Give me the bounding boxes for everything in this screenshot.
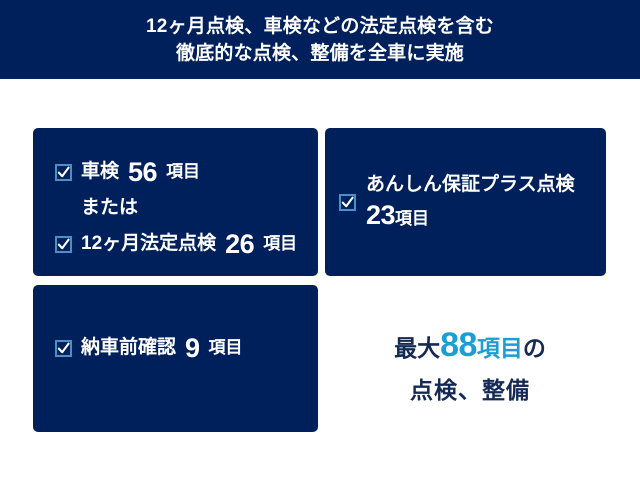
- list-item-label: 12ヶ月法定点検: [81, 229, 216, 259]
- checkbox-checked-icon: [55, 340, 72, 357]
- summary-number: 88: [440, 326, 477, 364]
- checkbox-checked-icon: [55, 164, 72, 181]
- summary-line-1: 最大88項目の: [330, 326, 610, 371]
- card-pre-delivery-check: 納車前確認 9 項目: [33, 285, 318, 432]
- card-warranty-plus-unit: 項目: [395, 204, 429, 234]
- header-line-1: 12ヶ月点検、車検などの法定点検を含む: [146, 13, 494, 40]
- list-item-label: 納車前確認: [81, 333, 176, 363]
- card-inspection-items: 車検 56 項目 または 12ヶ月法定点検 26 項目: [33, 128, 318, 276]
- summary-line-2-label: 点検、整備: [410, 377, 530, 403]
- list-item: 車検 56 項目: [55, 157, 304, 187]
- card-warranty-plus-textblock: あんしん保証プラス点検 23 項目: [366, 170, 575, 234]
- summary-unit: 項目: [477, 335, 523, 361]
- checkbox-checked-icon: [55, 236, 72, 253]
- summary-suffix: の: [523, 335, 546, 361]
- list-item-label: または: [81, 193, 138, 223]
- summary-total: 最大88項目の 点検、整備: [330, 326, 610, 413]
- list-item-unit: 項目: [166, 157, 200, 187]
- list-item: 納車前確認 9 項目: [55, 333, 304, 363]
- header-banner: 12ヶ月点検、車検などの法定点検を含む 徹底的な点検、整備を全車に実施: [0, 0, 640, 79]
- summary-prefix: 最大: [394, 335, 440, 361]
- header-line-2: 徹底的な点検、整備を全車に実施: [176, 40, 464, 67]
- checkbox-checked-icon: [339, 194, 356, 211]
- card-pre-delivery-lines: 納車前確認 9 項目: [55, 333, 304, 363]
- summary-line-2: 点検、整備: [330, 371, 610, 413]
- card-warranty-plus-inner: あんしん保証プラス点検 23 項目: [339, 128, 598, 276]
- list-item: または: [55, 193, 304, 223]
- list-item-label: 車検: [81, 157, 119, 187]
- card-inspection-items-lines: 車検 56 項目 または 12ヶ月法定点検 26 項目: [55, 157, 304, 259]
- list-item-number: 26: [225, 229, 254, 259]
- card-warranty-plus-number: 23: [366, 200, 395, 230]
- card-warranty-plus-inspection: あんしん保証プラス点検 23 項目: [325, 128, 606, 276]
- list-item-unit: 項目: [263, 229, 297, 259]
- list-item: 12ヶ月法定点検 26 項目: [55, 229, 304, 259]
- list-item-unit: 項目: [209, 333, 243, 363]
- list-item-number: 9: [185, 333, 200, 363]
- card-warranty-plus-count-row: 23 項目: [366, 200, 575, 234]
- infographic-page: 12ヶ月点検、車検などの法定点検を含む 徹底的な点検、整備を全車に実施 車検 5…: [0, 0, 640, 480]
- list-item-number: 56: [128, 157, 157, 187]
- card-warranty-plus-label: あんしん保証プラス点検: [366, 170, 575, 200]
